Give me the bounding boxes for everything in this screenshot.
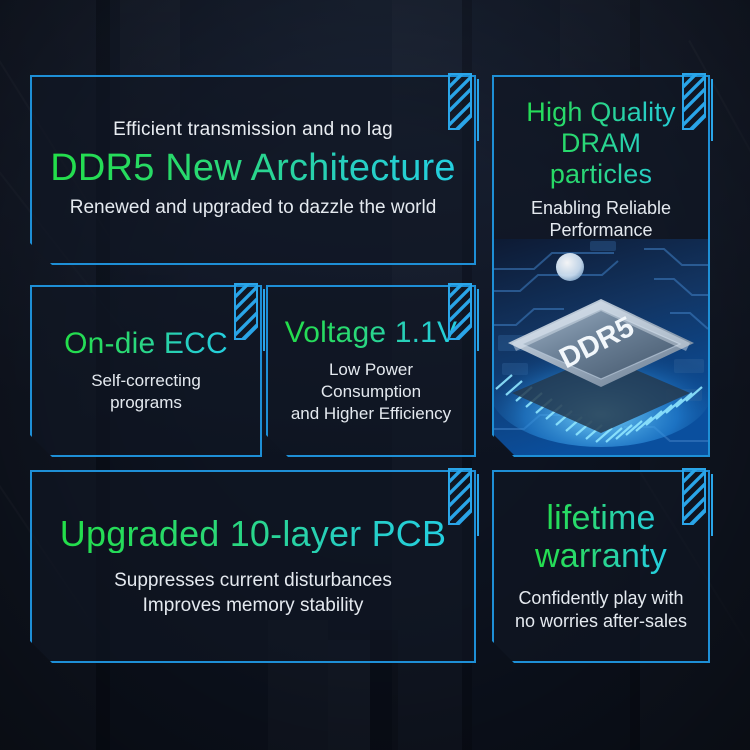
card-headline: Upgraded 10-layer PCB: [60, 515, 446, 553]
feature-card-voltage[interactable]: Voltage 1.1V Low Power Consumption and H…: [266, 285, 476, 457]
card-subtitle-line2: no worries after-sales: [515, 611, 687, 631]
feature-card-warranty[interactable]: lifetime warranty Confidently play with …: [492, 470, 710, 663]
card-eyebrow: Efficient transmission and no lag: [113, 119, 393, 141]
card-subtitle-line1: Suppresses current disturbances: [114, 570, 392, 591]
card-subtitle: Low Power Consumption and Higher Efficie…: [280, 359, 462, 424]
card-headline-line2: warranty: [535, 537, 667, 575]
feature-card-architecture[interactable]: Efficient transmission and no lag DDR5 N…: [30, 75, 476, 265]
card-subtitle: Enabling Reliable Performance: [531, 198, 671, 242]
card-subtitle-line2: programs: [110, 393, 182, 412]
card-subtitle-line2: Improves memory stability: [143, 595, 364, 616]
card-subtitle: Renewed and upgraded to dazzle the world: [70, 196, 437, 220]
card-subtitle-line1: Self-correcting: [91, 371, 201, 390]
card-headline-line1: High Quality: [526, 97, 675, 127]
feature-card-pcb[interactable]: Upgraded 10-layer PCB Suppresses current…: [30, 470, 476, 663]
card-subtitle-line2: and Higher Efficiency: [291, 404, 451, 423]
card-headline: lifetime warranty: [535, 500, 667, 575]
feature-card-ecc[interactable]: On-die ECC Self-correcting programs: [30, 285, 262, 457]
card-subtitle-line1: Confidently play with: [518, 588, 683, 608]
card-headline: High Quality DRAM particles: [506, 97, 696, 189]
card-subtitle-line2: Performance: [549, 220, 652, 240]
card-headline-line1: lifetime: [546, 499, 655, 537]
card-headline-line2: DRAM particles: [550, 128, 652, 189]
card-headline: On-die ECC: [64, 328, 228, 360]
card-subtitle-line1: Low Power Consumption: [321, 360, 421, 401]
card-headline: Voltage 1.1V: [285, 317, 458, 349]
card-subtitle: Confidently play with no worries after-s…: [515, 587, 687, 632]
card-subtitle: Suppresses current disturbances Improves…: [114, 569, 392, 618]
card-subtitle: Self-correcting programs: [91, 370, 201, 414]
card-headline: DDR5 New Architecture: [50, 148, 455, 188]
card-subtitle-line1: Enabling Reliable: [531, 198, 671, 218]
feature-card-dram[interactable]: DDR5 High Quality DRAM particles E: [492, 75, 710, 457]
